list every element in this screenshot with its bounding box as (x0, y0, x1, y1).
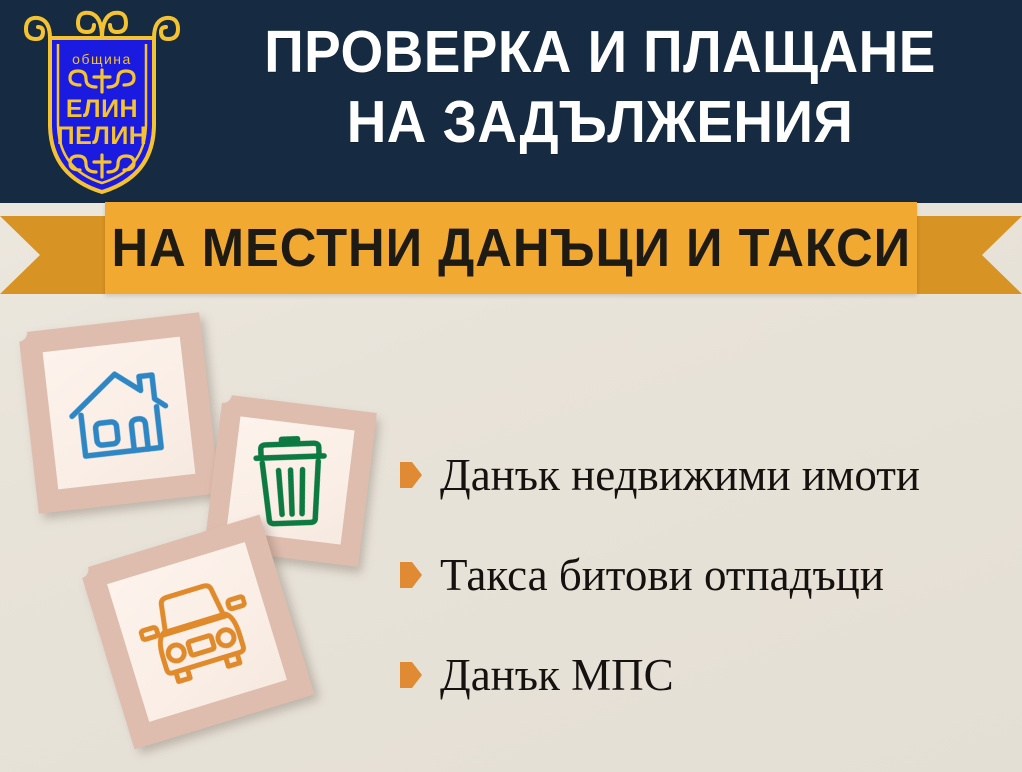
arrow-bullet-icon (400, 462, 422, 488)
page-title-line-1: ПРОВЕРКА И ПЛАЩАНЕ (219, 18, 982, 88)
list-item-label: Данък МПС (440, 653, 674, 698)
stamp-card-property (18, 312, 219, 513)
coat-of-arms-logo: община ЕЛИН ПЕЛИН (22, 4, 182, 196)
poster-canvas: община ЕЛИН ПЕЛИН ПРОВЕРКА И ПЛ (0, 0, 1022, 772)
arrow-bullet-icon (400, 662, 422, 688)
crest-icon: община ЕЛИН ПЕЛИН (22, 4, 182, 196)
list-item[interactable]: Данък МПС (400, 625, 1020, 725)
arrow-bullet-icon (400, 562, 422, 588)
svg-text:ЕЛИН: ЕЛИН (66, 95, 138, 123)
page-title-line-2: НА ЗАДЪЛЖЕНИЯ (219, 88, 982, 158)
house-icon (63, 362, 175, 465)
ribbon-text: НА МЕСТНИ ДАНЪЦИ И ТАКСИ (111, 217, 911, 279)
svg-text:ПЕЛИН: ПЕЛИН (57, 122, 148, 150)
stamp-paper (43, 337, 196, 490)
list-item[interactable]: Такса битови отпадъци (400, 525, 1020, 625)
page-title: ПРОВЕРКА И ПЛАЩАНЕ НА ЗАДЪЛЖЕНИЯ (219, 18, 982, 157)
list-item[interactable]: Данък недвижими имоти (400, 425, 1020, 525)
car-icon (130, 571, 265, 694)
svg-text:община: община (72, 51, 132, 67)
list-item-label: Данък недвижими имоти (440, 453, 920, 498)
subtitle-ribbon: НА МЕСТНИ ДАНЪЦИ И ТАКСИ (0, 202, 1022, 300)
list-item-label: Такса битови отпадъци (440, 553, 884, 598)
ribbon-band: НА МЕСТНИ ДАНЪЦИ И ТАКСИ (105, 202, 917, 294)
trash-bin-icon (247, 434, 334, 527)
tax-types-list: Данък недвижими имоти Такса битови отпад… (400, 425, 1020, 725)
header-bar: община ЕЛИН ПЕЛИН ПРОВЕРКА И ПЛ (0, 0, 1022, 203)
